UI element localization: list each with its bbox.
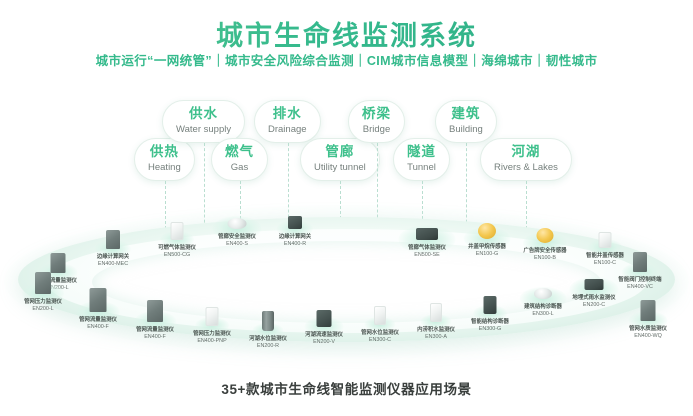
page-title: 城市生命线监测系统 bbox=[0, 14, 693, 53]
device-model: EN200-C bbox=[572, 302, 615, 309]
device-model: EN200-R bbox=[249, 343, 287, 350]
footer-caption: 35+款城市生命线智能监测仪器应用场景 bbox=[0, 378, 693, 398]
device-label: 管网压力监测仪EN200-L bbox=[24, 299, 62, 312]
device-name: 内涝积水监测仪 bbox=[417, 327, 455, 334]
device-icon bbox=[478, 223, 496, 239]
device-model: EN100-G bbox=[468, 251, 506, 258]
device-label: 河湖水位监测仪EN200-R bbox=[249, 336, 287, 349]
device-label: 管网水质监测仪EN400-WQ bbox=[629, 326, 667, 339]
device-icon bbox=[35, 272, 51, 294]
device-icon bbox=[641, 300, 656, 321]
device-label: 管网流量监测仪EN400-F bbox=[136, 327, 174, 340]
device-label: 地埋式雨水监测仪EN200-C bbox=[572, 295, 615, 308]
device-icon bbox=[51, 253, 66, 273]
category-pill-utility-tunnel[interactable]: 管廊Utility tunnel bbox=[300, 138, 380, 181]
category-pill-rivers-lakes[interactable]: 河湖Rivers & Lakes bbox=[480, 138, 572, 181]
category-pill-label-cn: 隧道 bbox=[407, 144, 436, 161]
device-icon bbox=[374, 306, 386, 325]
device-model: EN400-F bbox=[79, 324, 117, 331]
category-pill-building[interactable]: 建筑Building bbox=[435, 100, 497, 143]
device-icon bbox=[484, 296, 497, 314]
category-pill-label-cn: 管廊 bbox=[314, 144, 366, 161]
device-name: 管网水位监测仪 bbox=[361, 330, 399, 337]
device-name: 智能阀门控制终端 bbox=[618, 277, 661, 284]
device-label: 边缘计算网关EN400-R bbox=[279, 234, 311, 247]
category-pill-label-cn: 供热 bbox=[148, 144, 181, 161]
device-name: 管网压力监测仪 bbox=[24, 299, 62, 306]
device-icon bbox=[288, 216, 302, 229]
category-pill-label-en: Utility tunnel bbox=[314, 162, 366, 174]
category-pill-drainage[interactable]: 排水Drainage bbox=[254, 100, 321, 143]
device-icon bbox=[262, 311, 274, 331]
category-pill-label-en: Bridge bbox=[362, 124, 391, 136]
device-label: 井盖甲烷传感器EN100-G bbox=[468, 244, 506, 257]
device-name: 管网流量监测仪 bbox=[136, 327, 174, 334]
poster-canvas: 城市生命线监测系统 城市运行“一网统管”｜城市安全风险综合监测｜CIM城市信息模… bbox=[0, 0, 693, 416]
device-name: 边缘计算网关 bbox=[279, 234, 311, 241]
device-name: 管网压力监测仪 bbox=[193, 331, 231, 338]
device-name: 地埋式雨水监测仪 bbox=[572, 295, 615, 302]
category-pill-label-en: Building bbox=[449, 124, 483, 136]
category-pill-label-en: Heating bbox=[148, 162, 181, 174]
device-label: 管廊安全监测仪EN400-S bbox=[218, 234, 256, 247]
device-icon bbox=[171, 222, 184, 240]
device-model: EN200-V bbox=[305, 339, 343, 346]
device-name: 井盖甲烷传感器 bbox=[468, 244, 506, 251]
category-pill-water-supply[interactable]: 供水Water supply bbox=[162, 100, 245, 143]
category-pill-tunnel[interactable]: 隧道Tunnel bbox=[393, 138, 450, 181]
device-icon bbox=[90, 288, 107, 312]
device-model: EN400-WQ bbox=[629, 333, 667, 340]
device-icon bbox=[206, 307, 219, 326]
device-model: EN400-MEC bbox=[97, 261, 129, 268]
device-name: 可燃气体监测仪 bbox=[158, 245, 196, 252]
category-pill-gas[interactable]: 燃气Gas bbox=[211, 138, 268, 181]
device-label: 管网水位监测仪EN300-C bbox=[361, 330, 399, 343]
category-pill-label-en: Tunnel bbox=[407, 162, 436, 174]
device-model: EN400-VC bbox=[618, 284, 661, 291]
category-pill-heating[interactable]: 供热Heating bbox=[134, 138, 195, 181]
device-icon bbox=[317, 310, 332, 327]
device-name: 建筑结构诊断器 bbox=[524, 304, 562, 311]
device-name: 智能结构诊断器 bbox=[471, 319, 509, 326]
device-label: 管网流量监测仪EN400-F bbox=[79, 317, 117, 330]
device-name: 河湖流速监测仪 bbox=[305, 332, 343, 339]
device-model: EN400-R bbox=[279, 241, 311, 248]
device-label: 可燃气体监测仪EN500-CG bbox=[158, 245, 196, 258]
device-model: EN200-L bbox=[24, 306, 62, 313]
device-model: EN400-PNP bbox=[193, 338, 231, 345]
category-pill-label-cn: 供水 bbox=[176, 106, 231, 123]
device-label: 广告牌安全传感器EN100-B bbox=[523, 248, 566, 261]
category-pill-label-cn: 建筑 bbox=[449, 106, 483, 123]
device-label: 管廊气体监测仪EN500-SE bbox=[408, 245, 446, 258]
category-pill-label-en: Gas bbox=[225, 162, 254, 174]
device-name: 广告牌安全传感器 bbox=[523, 248, 566, 255]
page-subtitle: 城市运行“一网统管”｜城市安全风险综合监测｜CIM城市信息模型｜海绵城市｜韧性城… bbox=[0, 50, 693, 69]
device-name: 智能井盖传感器 bbox=[586, 253, 624, 260]
device-model: EN300-A bbox=[417, 334, 455, 341]
device-model: EN100-C bbox=[586, 260, 624, 267]
category-pill-label-en: Drainage bbox=[268, 124, 307, 136]
device-model: EN100-B bbox=[523, 255, 566, 262]
device-icon bbox=[416, 228, 438, 240]
device-icon bbox=[585, 279, 604, 290]
device-model: EN300-C bbox=[361, 337, 399, 344]
device-name: 管廊气体监测仪 bbox=[408, 245, 446, 252]
device-icon bbox=[537, 228, 554, 243]
category-pill-label-en: Rivers & Lakes bbox=[494, 162, 558, 174]
device-name: 管网水质监测仪 bbox=[629, 326, 667, 333]
category-pill-label-cn: 河湖 bbox=[494, 144, 558, 161]
device-label: 管网压力监测仪EN400-PNP bbox=[193, 331, 231, 344]
device-icon bbox=[147, 300, 163, 322]
category-pill-label-en: Water supply bbox=[176, 124, 231, 136]
device-name: 管网流量监测仪 bbox=[79, 317, 117, 324]
device-icon bbox=[106, 230, 120, 249]
category-pill-bridge[interactable]: 桥梁Bridge bbox=[348, 100, 405, 143]
device-icon bbox=[430, 303, 442, 322]
device-label: 建筑结构诊断器EN300-L bbox=[524, 304, 562, 317]
device-icon bbox=[228, 218, 247, 229]
category-pill-label-cn: 燃气 bbox=[225, 144, 254, 161]
device-name: 管廊安全监测仪 bbox=[218, 234, 256, 241]
device-label: 内涝积水监测仪EN300-A bbox=[417, 327, 455, 340]
category-pill-label-cn: 桥梁 bbox=[362, 106, 391, 123]
category-pill-label-cn: 排水 bbox=[268, 106, 307, 123]
device-model: EN300-G bbox=[471, 326, 509, 333]
device-model: EN500-SE bbox=[408, 252, 446, 259]
device-icon bbox=[534, 288, 552, 299]
device-label: 智能井盖传感器EN100-C bbox=[586, 253, 624, 266]
device-label: 智能阀门控制终端EN400-VC bbox=[618, 277, 661, 290]
device-model: EN400-F bbox=[136, 334, 174, 341]
device-model: EN500-CG bbox=[158, 252, 196, 259]
device-icon bbox=[633, 252, 647, 272]
device-model: EN300-L bbox=[524, 311, 562, 318]
device-label: 边缘计算网关EN400-MEC bbox=[97, 254, 129, 267]
device-label: 河湖流速监测仪EN200-V bbox=[305, 332, 343, 345]
device-name: 河湖水位监测仪 bbox=[249, 336, 287, 343]
device-icon bbox=[599, 232, 612, 248]
device-label: 智能结构诊断器EN300-G bbox=[471, 319, 509, 332]
device-name: 边缘计算网关 bbox=[97, 254, 129, 261]
device-model: EN400-S bbox=[218, 241, 256, 248]
